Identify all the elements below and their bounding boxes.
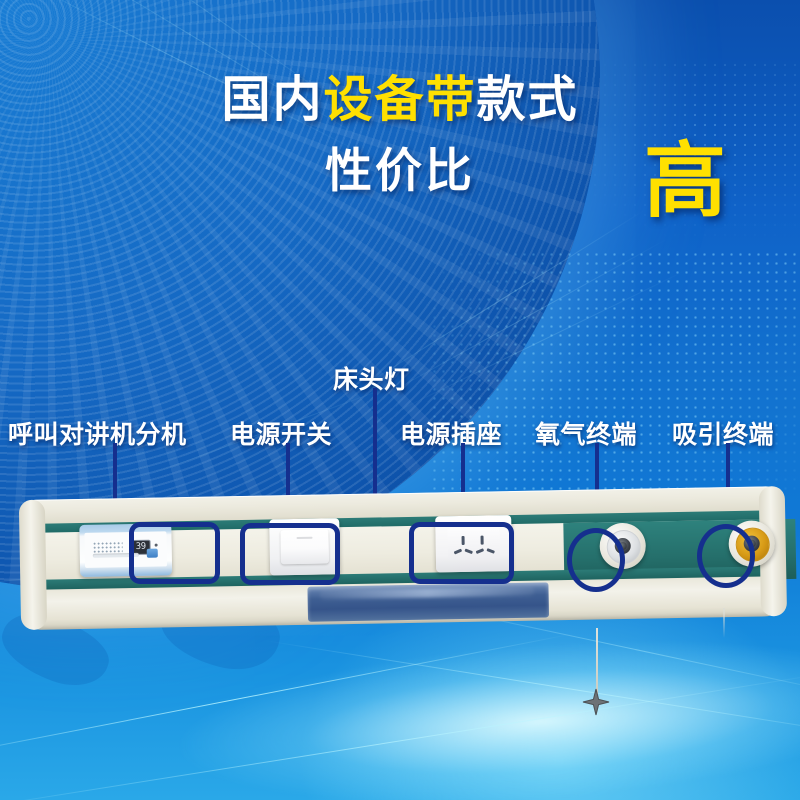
callout-label-suction-terminal: 吸引终端 — [672, 415, 774, 451]
highlight-box-power-socket — [409, 522, 514, 584]
highlight-box-power-switch — [240, 523, 340, 585]
poster-canvas: 国内设备带款式 性价比 高 呼叫对讲机分机 电源开关 床头灯 电源插座 氧气终端… — [0, 0, 800, 800]
callout-label-oxygen-terminal: 氧气终端 — [535, 415, 637, 451]
highlight-box-intercom — [129, 522, 220, 584]
halftone-dot-field — [430, 250, 800, 490]
callout-label-power-socket: 电源插座 — [400, 415, 502, 451]
headline-line1-part2: 款式 — [477, 73, 579, 127]
pull-cord[interactable] — [596, 628, 598, 694]
panel-end-cap-left — [19, 500, 47, 630]
highlight-ellipse-oxygen — [567, 528, 625, 592]
headline-line-1: 国内设备带款式 — [0, 76, 800, 125]
headline-big-word: 高 — [644, 141, 726, 223]
suction-tube-cord — [723, 608, 725, 638]
pull-cord-handle-icon[interactable] — [582, 688, 610, 716]
callout-label-bedside-lamp: 床头灯 — [333, 360, 410, 396]
callout-label-intercom: 呼叫对讲机分机 — [8, 415, 187, 451]
callout-label-power-switch: 电源开关 — [230, 415, 332, 451]
highlight-ellipse-suction — [697, 524, 755, 588]
headline-line1-highlight: 设备带 — [323, 73, 476, 127]
headline-line1-part1: 国内 — [221, 73, 323, 127]
